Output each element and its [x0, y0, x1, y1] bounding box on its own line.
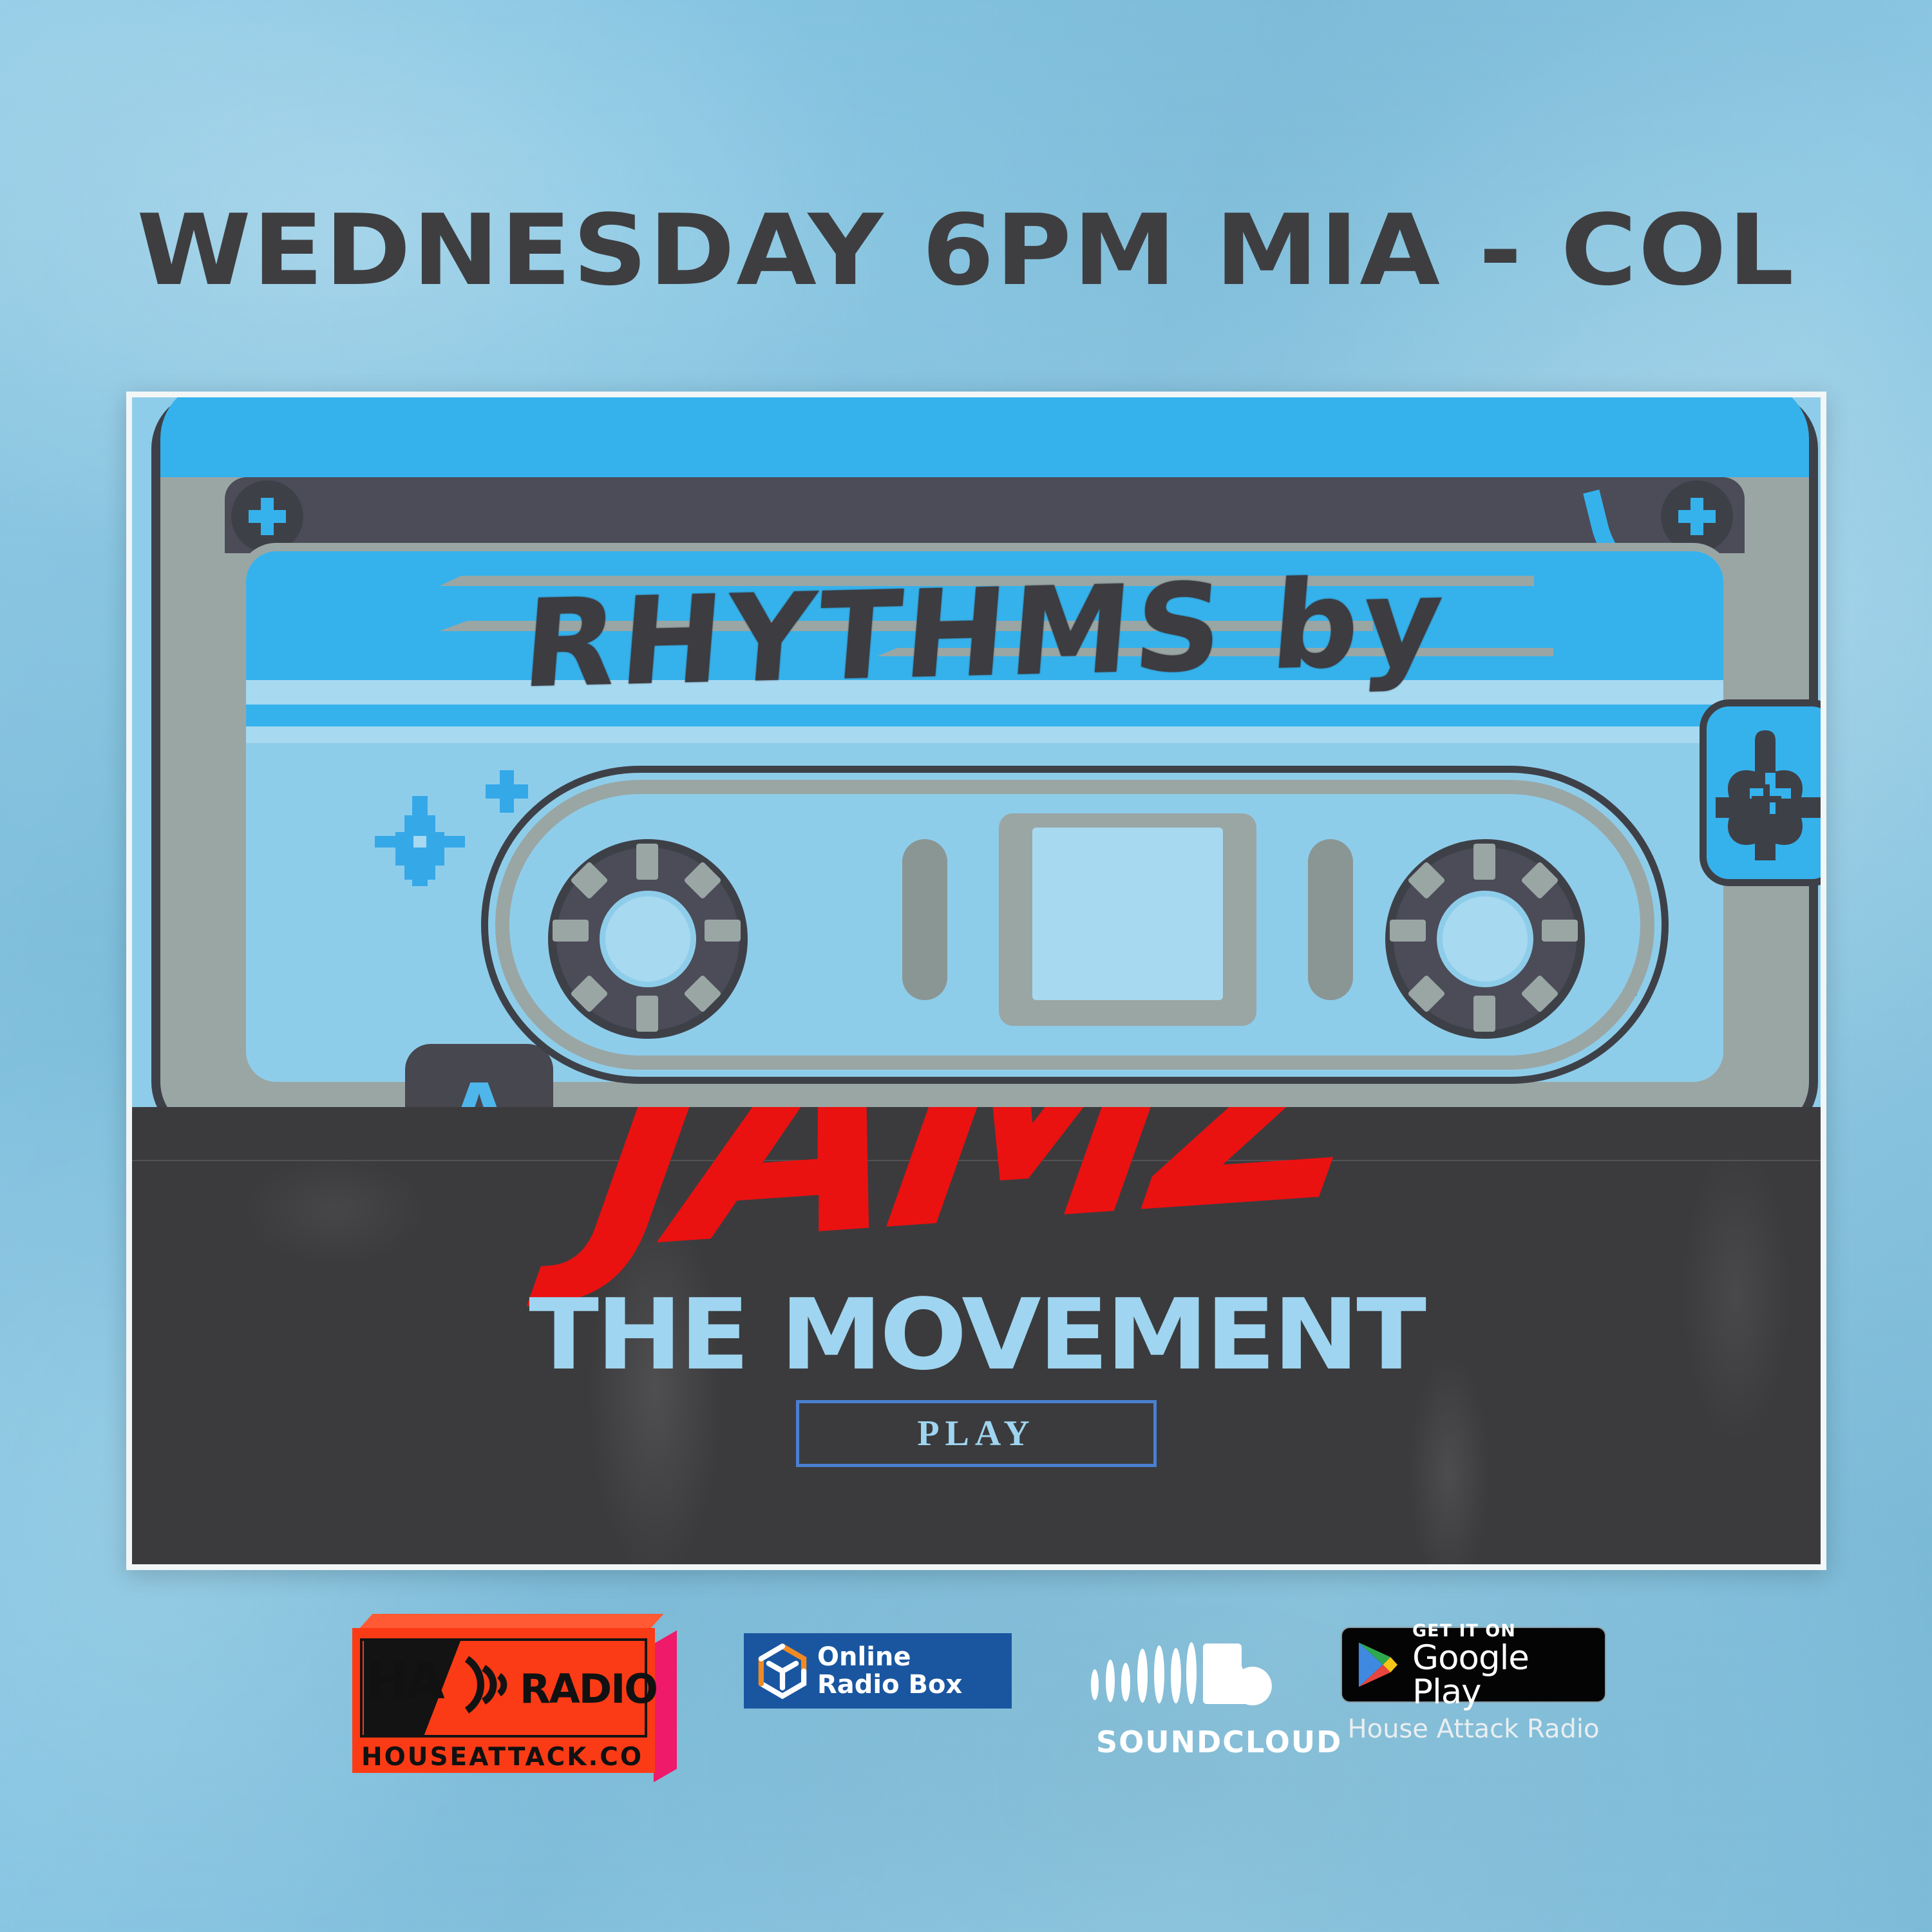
- page-title: WEDNESDAY 6PM MIA - COL: [0, 193, 1932, 307]
- cassette-artwork: RHYTHMS by: [132, 397, 1821, 1564]
- reel-housing: [495, 780, 1654, 1070]
- hexagon-cube-icon: [753, 1642, 812, 1701]
- cassette-top-blue: [160, 392, 1809, 477]
- google-play-small-text: GET IT ON: [1412, 1621, 1605, 1641]
- brand-tagline: THE MOVEMENT: [132, 1278, 1821, 1392]
- ha-radio-word: RADIO: [520, 1665, 657, 1712]
- orb-line-2: Radio Box: [817, 1671, 962, 1698]
- ha-radio-3d-side: [654, 1631, 677, 1783]
- soundcloud-cloud-icon: [1088, 1628, 1282, 1718]
- cassette-reel-right: [1385, 839, 1585, 1039]
- online-radio-box-text: Online Radio Box: [817, 1643, 962, 1698]
- google-play-caption: House Attack Radio: [1338, 1714, 1609, 1744]
- ha-radio-domain: HOUSEATTACK.CO: [361, 1743, 643, 1772]
- cassette-shell: RHYTHMS by: [151, 392, 1818, 1140]
- compass-star-icon: [1700, 699, 1826, 886]
- orb-line-1: Online: [817, 1643, 962, 1671]
- ha-radio-mark: HA: [366, 1653, 442, 1710]
- tape-window: [999, 813, 1256, 1026]
- screw-cross-icon: [1661, 480, 1733, 553]
- ha-radio-face: HA RADIO HOUSEATTACK.CO: [352, 1628, 655, 1773]
- brand-band: JAMZ THE MOVEMENT PLAY: [132, 1107, 1821, 1570]
- sparkle-icon: [486, 770, 528, 813]
- online-radio-box-logo[interactable]: Online Radio Box: [744, 1633, 1012, 1709]
- poster-card: RHYTHMS by: [126, 392, 1826, 1570]
- label-stripe: [246, 726, 1723, 743]
- radio-wave-icon: [455, 1654, 526, 1716]
- soundcloud-logo[interactable]: SOUNDCLOUD: [1088, 1628, 1301, 1776]
- google-play-wordmark: Google Play: [1412, 1641, 1605, 1709]
- ha-radio-logo[interactable]: HA RADIO HOUSEATTACK.CO: [352, 1628, 655, 1773]
- google-play-triangle-icon: [1355, 1640, 1399, 1690]
- screw-cross-icon: [231, 480, 303, 553]
- soundcloud-wordmark: SOUNDCLOUD: [1096, 1725, 1342, 1759]
- cassette-reel-left: [548, 839, 748, 1039]
- google-play-badge[interactable]: GET IT ON Google Play: [1341, 1627, 1606, 1703]
- footer-logos: HA RADIO HOUSEATTACK.CO Online Radio Box: [0, 1623, 1932, 1880]
- play-button[interactable]: PLAY: [796, 1400, 1157, 1467]
- sparkle-icon: [375, 796, 465, 886]
- compass-star-glyph: [1716, 725, 1825, 860]
